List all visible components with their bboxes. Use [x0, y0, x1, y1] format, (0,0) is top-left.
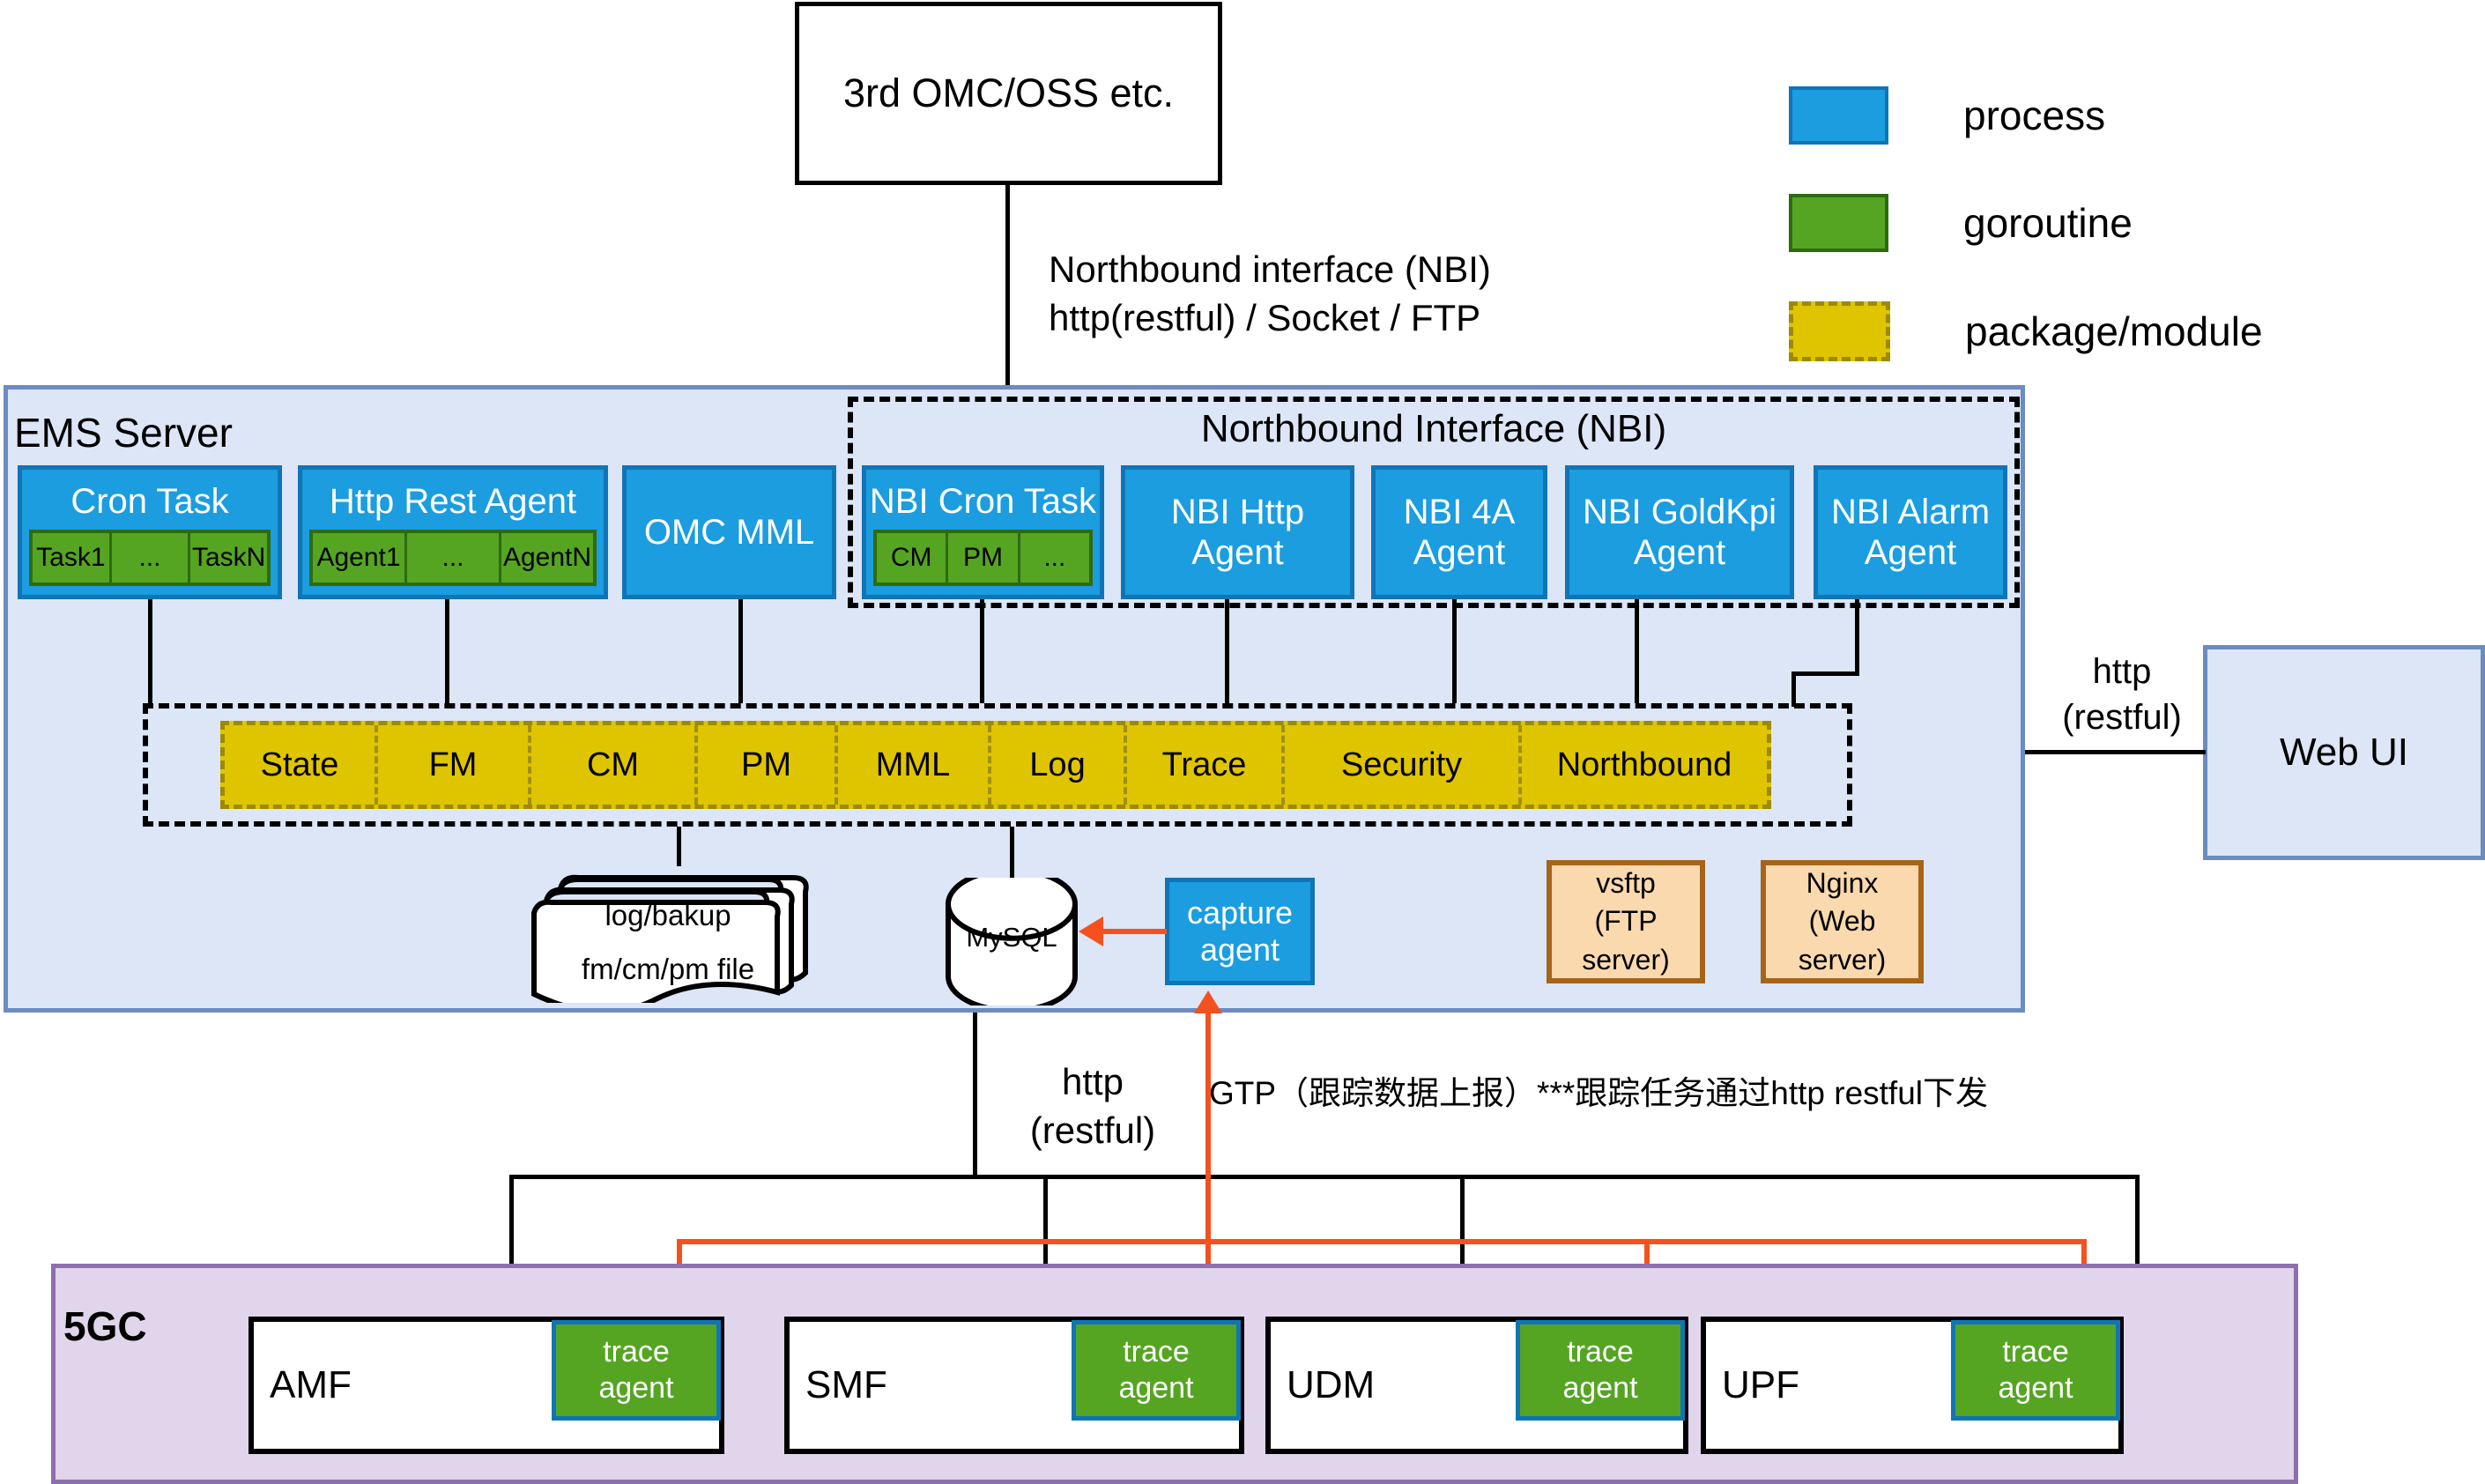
- link-nbi-alarm-agent-seg3: [1791, 672, 1796, 707]
- link-nbi-4a-agent-to-bus: [1452, 599, 1457, 703]
- vsftp-line2: (FTP server): [1552, 902, 1700, 978]
- trace-agent-line1: trace: [598, 1334, 673, 1370]
- trace-agent-line2: agent: [598, 1370, 673, 1406]
- process-omc-mml-label: OMC MML: [644, 512, 814, 553]
- legend-item-process: process: [1789, 86, 2263, 145]
- trace-agent-line1: trace: [1118, 1334, 1193, 1370]
- link-nbi-http-agent-to-bus: [1225, 599, 1229, 703]
- trace-agent-line1: trace: [1562, 1334, 1637, 1370]
- link-nbi-alarm-agent-seg2: [1791, 672, 1859, 676]
- trace-agent-amf[interactable]: trace agent: [552, 1320, 721, 1421]
- http-restful-line2: (restful): [1013, 1106, 1172, 1154]
- trace-agent-line1: trace: [1998, 1334, 2073, 1370]
- module-northbound[interactable]: Northbound: [1522, 725, 1767, 805]
- module-pm[interactable]: PM: [698, 725, 838, 805]
- web-ui-edge-line1: http: [2043, 649, 2201, 694]
- module-trace[interactable]: Trace: [1127, 725, 1285, 805]
- trace-flow-trunk: [1205, 1012, 1211, 1244]
- process-http-rest-agent-label: Http Rest Agent: [302, 482, 604, 522]
- network-function-upf-label: UPF: [1722, 1363, 1799, 1407]
- nginx-server-box: Nginx (Web server): [1761, 860, 1924, 983]
- link-cron-task-to-bus: [148, 599, 152, 703]
- goroutine-swatch-icon: [1789, 194, 1888, 252]
- network-function-udm[interactable]: UDM trace agent: [1265, 1317, 1688, 1454]
- legend-label-goroutine: goroutine: [1963, 199, 2133, 247]
- network-function-upf[interactable]: UPF trace agent: [1701, 1317, 2124, 1454]
- process-nbi-cron-task[interactable]: NBI Cron Task CM PM ...: [862, 465, 1104, 599]
- goroutine-cell: AgentN: [501, 533, 593, 582]
- network-function-amf[interactable]: AMF trace agent: [248, 1317, 724, 1454]
- process-nbi-goldkpi-agent-label: NBI GoldKpi Agent: [1569, 492, 1790, 573]
- legend: process goroutine package/module: [1789, 86, 2263, 411]
- goroutine-cell: TaskN: [190, 533, 267, 582]
- module-log[interactable]: Log: [991, 725, 1127, 805]
- goroutine-strip-http-rest-agent: Agent1 ... AgentN: [309, 530, 597, 586]
- fivegc-title: 5GC: [63, 1302, 147, 1350]
- legend-item-package: package/module: [1789, 301, 2263, 361]
- vsftp-line1: vsftp: [1552, 864, 1700, 902]
- network-function-udm-label: UDM: [1287, 1363, 1375, 1407]
- capture-agent-line2: agent: [1187, 931, 1293, 968]
- nbi-edge-label-line2: http(restful) / Socket / FTP: [1049, 293, 1613, 342]
- web-ui-box[interactable]: Web UI: [2203, 645, 2485, 860]
- process-nbi-alarm-agent-label: NBI Alarm Agent: [1818, 492, 2003, 573]
- module-fm[interactable]: FM: [378, 725, 531, 805]
- link-ems-to-web-ui: [2025, 750, 2206, 754]
- process-cron-task-label: Cron Task: [22, 482, 278, 522]
- capture-agent-line1: capture: [1187, 894, 1293, 931]
- goroutine-cell: PM: [948, 533, 1020, 582]
- third-party-omc-oss-box: 3rd OMC/OSS etc.: [795, 2, 1222, 185]
- nbi-edge-label-line1: Northbound interface (NBI): [1049, 245, 1613, 293]
- nbi-group-title: Northbound Interface (NBI): [848, 407, 2020, 451]
- goroutine-cell: Agent1: [313, 533, 407, 582]
- arrow-trace-to-capture-head: [1194, 991, 1222, 1013]
- file-store-line1: log/bakup: [536, 888, 800, 942]
- trace-agent-line2: agent: [1562, 1370, 1637, 1406]
- web-ui-label: Web UI: [2280, 731, 2408, 775]
- module-mml[interactable]: MML: [838, 725, 991, 805]
- arrow-capture-to-mysql-head: [1079, 916, 1103, 946]
- goroutine-strip-nbi-cron-task: CM PM ...: [873, 530, 1093, 586]
- trace-agent-upf[interactable]: trace agent: [1951, 1320, 2120, 1421]
- nginx-line1: Nginx: [1766, 864, 1918, 902]
- third-party-omc-oss-label: 3rd OMC/OSS etc.: [843, 70, 1174, 116]
- trace-agent-line2: agent: [1118, 1370, 1193, 1406]
- link-nbi-cron-task-to-bus: [980, 599, 984, 703]
- http-restful-line1: http: [1013, 1057, 1172, 1106]
- goroutine-cell: ...: [407, 533, 501, 582]
- ems-server-title: EMS Server: [14, 409, 233, 456]
- link-http-rest-agent-to-bus: [445, 599, 449, 703]
- process-nbi-http-agent[interactable]: NBI Http Agent: [1121, 465, 1354, 599]
- goroutine-cell: ...: [1020, 533, 1089, 582]
- network-function-smf[interactable]: SMF trace agent: [784, 1317, 1244, 1454]
- module-security[interactable]: Security: [1285, 725, 1522, 805]
- module-bus: State FM CM PM MML Log Trace Security No…: [220, 721, 1771, 809]
- process-nbi-http-agent-label: NBI Http Agent: [1125, 492, 1350, 573]
- goroutine-cell: ...: [112, 533, 191, 582]
- legend-label-process: process: [1963, 92, 2105, 139]
- web-ui-edge-label: http (restful): [2043, 649, 2201, 740]
- arrow-capture-to-mysql-line: [1103, 929, 1167, 934]
- web-ui-edge-line2: (restful): [2043, 694, 2201, 740]
- link-nbi-alarm-agent-seg1: [1855, 599, 1859, 675]
- link-omc-mml-to-bus: [738, 599, 743, 703]
- package-swatch-icon: [1789, 301, 1890, 361]
- link-nbi-goldkpi-agent-to-bus: [1635, 599, 1639, 703]
- process-cron-task[interactable]: Cron Task Task1 ... TaskN: [18, 465, 282, 599]
- network-function-smf-label: SMF: [805, 1363, 887, 1407]
- link-bus-to-mysql: [1010, 827, 1014, 881]
- nginx-line2: (Web server): [1766, 902, 1918, 978]
- http-restful-edge-label: http (restful): [1013, 1057, 1172, 1155]
- process-nbi-goldkpi-agent[interactable]: NBI GoldKpi Agent: [1565, 465, 1794, 599]
- link-ems-to-5gc-trunk: [973, 1013, 977, 1176]
- mysql-label: MySQL: [941, 922, 1082, 953]
- legend-label-package: package/module: [1965, 308, 2263, 355]
- trace-agent-udm[interactable]: trace agent: [1516, 1320, 1685, 1421]
- process-swatch-icon: [1789, 86, 1888, 145]
- process-nbi-alarm-agent[interactable]: NBI Alarm Agent: [1814, 465, 2007, 599]
- process-nbi-cron-task-label: NBI Cron Task: [866, 482, 1100, 522]
- module-state[interactable]: State: [225, 725, 378, 805]
- vsftp-server-box: vsftp (FTP server): [1547, 860, 1705, 983]
- process-http-rest-agent[interactable]: Http Rest Agent Agent1 ... AgentN: [298, 465, 608, 599]
- gtp-annotation-label: GTP（跟踪数据上报）***跟踪任务通过http restful下发: [1209, 1066, 1988, 1114]
- network-function-amf-label: AMF: [270, 1363, 352, 1407]
- link-thirdparty-to-nbi: [1005, 185, 1010, 403]
- legend-item-goroutine: goroutine: [1789, 194, 2263, 252]
- goroutine-strip-cron-task: Task1 ... TaskN: [29, 530, 271, 586]
- module-cm[interactable]: CM: [531, 725, 698, 805]
- process-omc-mml[interactable]: OMC MML: [622, 465, 836, 599]
- link-5gc-horizontal-bus: [509, 1175, 2140, 1179]
- process-nbi-4a-agent[interactable]: NBI 4A Agent: [1371, 465, 1547, 599]
- capture-agent-box[interactable]: capture agent: [1165, 878, 1315, 985]
- trace-flow-horizontal-bus: [677, 1239, 2087, 1244]
- nbi-edge-label: Northbound interface (NBI) http(restful)…: [1049, 245, 1613, 343]
- goroutine-cell: CM: [877, 533, 948, 582]
- file-store-line2: fm/cm/pm file: [536, 942, 800, 996]
- link-bus-to-file-store: [677, 827, 681, 866]
- file-store-label: log/bakup fm/cm/pm file: [536, 888, 800, 996]
- trace-agent-smf[interactable]: trace agent: [1072, 1320, 1241, 1421]
- goroutine-cell: Task1: [33, 533, 112, 582]
- process-nbi-4a-agent-label: NBI 4A Agent: [1376, 492, 1543, 573]
- trace-agent-line2: agent: [1998, 1370, 2073, 1406]
